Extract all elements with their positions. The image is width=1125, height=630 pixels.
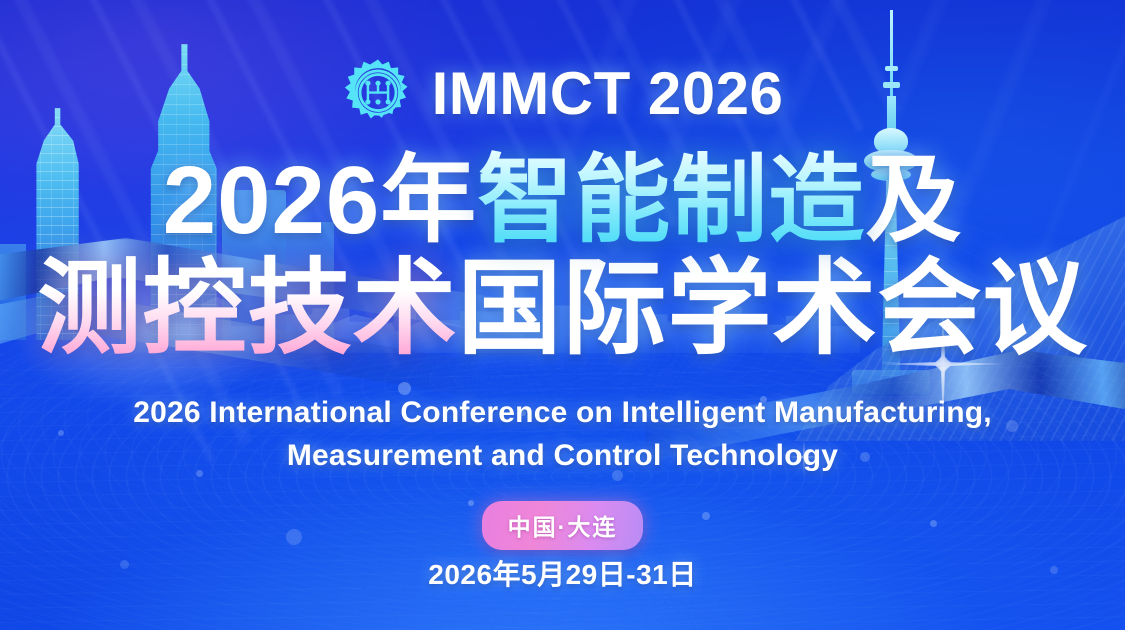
location-row: 中国·大连 [0,501,1125,550]
english-title-line-2: Measurement and Control Technology [0,435,1125,478]
conference-banner: IMMCT 2026 2026年智能制造及 测控技术国际学术会议 2026 In… [0,0,1125,630]
conference-date: 2026年5月29日-31日 [0,553,1125,593]
english-title-line-1: 2026 International Conference on Intelli… [0,392,1125,435]
english-title: 2026 International Conference on Intelli… [0,392,1125,477]
chinese-title-line-1: 2026年智能制造及 [0,152,1125,250]
chinese-title: 2026年智能制造及 测控技术国际学术会议 [0,152,1125,362]
title-segment-intelligent-manufacturing: 智能制造 [477,147,865,254]
title-segment-measurement-control: 测控技术 [37,251,457,367]
location-badge: 中国·大连 [482,501,644,550]
title-segment-international-conference: 国际学术会议 [458,251,1088,367]
title-segment-and: 及 [865,147,962,254]
brand-title: IMMCT 2026 [432,64,784,124]
banner-content: IMMCT 2026 2026年智能制造及 测控技术国际学术会议 2026 In… [0,0,1125,630]
title-segment-year: 2026年 [163,147,478,254]
gear-circuit-logo-icon [342,58,414,130]
chinese-title-line-2: 测控技术国际学术会议 [0,256,1125,362]
logo-row: IMMCT 2026 [0,58,1125,130]
